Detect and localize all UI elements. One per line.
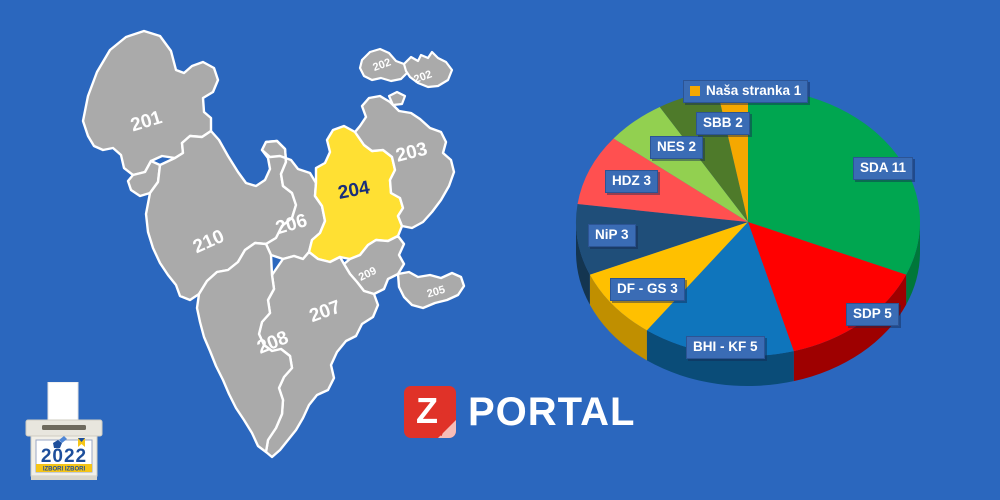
seats-pie-chart[interactable]: SDA 11SDP 5BHI - KF 5DF - GS 3NiP 3HDZ 3… (520, 0, 1000, 500)
pie-label-text-sdp: SDP 5 (853, 306, 892, 321)
pie-label-sda: SDA 11 (853, 157, 913, 180)
z-portal-mark-icon: Z (404, 386, 456, 438)
pie-label-text-nes: NES 2 (657, 139, 696, 154)
pie-label-text-dfgs: DF - GS 3 (617, 281, 678, 296)
pie-label-nes: NES 2 (650, 136, 703, 159)
pie-label-sbb: SBB 2 (696, 112, 750, 135)
pie-label-nip: NiP 3 (588, 224, 636, 247)
map-region-202-c[interactable] (389, 92, 405, 105)
brand-mark-letter: Z (416, 393, 438, 429)
pie-label-text-bhikf: BHI - KF 5 (693, 339, 758, 354)
pie-label-text-sda: SDA 11 (860, 160, 906, 175)
pie-label-sdp: SDP 5 (846, 303, 899, 326)
pie-label-text-sbb: SBB 2 (703, 115, 743, 130)
ballot-box-icon: 2022 IZBORI IZBORI (12, 382, 116, 488)
pie-label-text-nip: NiP 3 (595, 227, 629, 242)
ballot-year: 2022 (41, 446, 87, 467)
pie-label-bhikf: BHI - KF 5 (686, 336, 765, 359)
pie-label-text-hdz: HDZ 3 (612, 173, 651, 188)
pie-label-nasa: Naša stranka 1 (683, 80, 808, 103)
pie-label-dfgs: DF - GS 3 (610, 278, 685, 301)
ballot-caption: IZBORI IZBORI (43, 467, 86, 473)
legend-swatch-nasa (690, 86, 700, 96)
screenshot-root: 201 202 202 203 204 205 206 207 208 209 … (0, 0, 1000, 500)
pie-label-hdz: HDZ 3 (605, 170, 658, 193)
svg-text:2022: 2022 (41, 446, 87, 467)
pie-svg[interactable]: SDA 11SDP 5BHI - KF 5DF - GS 3NiP 3HDZ 3… (520, 0, 1000, 500)
pie-label-text-nasa: Naša stranka 1 (706, 83, 801, 99)
